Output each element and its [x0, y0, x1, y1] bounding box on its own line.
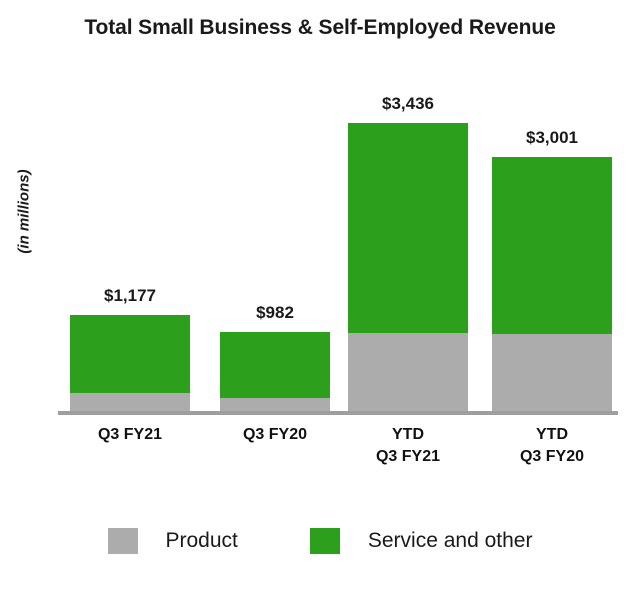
legend-swatch-service-icon: [310, 528, 340, 554]
legend-item-product[interactable]: Product: [108, 528, 238, 554]
bar-group-ytd-q3-fy21[interactable]: $3,436: [348, 123, 468, 413]
bar-group-q3-fy20[interactable]: $982: [220, 332, 330, 413]
x-axis-label-line1: YTD: [536, 426, 568, 443]
bar-segment-service[interactable]: [70, 315, 190, 393]
revenue-stacked-bar-chart: Total Small Business & Self-Employed Rev…: [0, 0, 640, 612]
bar-stack: [492, 157, 612, 413]
bar-segment-product[interactable]: [70, 393, 190, 413]
bar-segment-service[interactable]: [348, 123, 468, 333]
x-axis-label-line1: Q3 FY21: [98, 426, 162, 443]
x-axis-label-line2: Q3 FY20: [492, 446, 612, 468]
x-axis-label-line1: Q3 FY20: [243, 426, 307, 443]
bar-group-ytd-q3-fy20[interactable]: $3,001: [492, 157, 612, 413]
x-axis-label-q3-fy20: Q3 FY20: [220, 424, 330, 446]
bar-total-label: $3,001: [526, 128, 578, 148]
bar-total-label: $1,177: [104, 286, 156, 306]
x-axis-label-ytd-q3-fy20: YTD Q3 FY20: [492, 424, 612, 467]
plot-area: $1,177 $982 $3,436 $3,001: [0, 0, 640, 413]
legend-label-product: Product: [166, 529, 238, 553]
bar-segment-product[interactable]: [348, 333, 468, 413]
x-axis-label-line2: Q3 FY21: [348, 446, 468, 468]
bar-total-label: $3,436: [382, 94, 434, 114]
chart-legend: Product Service and other: [0, 528, 640, 554]
x-axis-label-ytd-q3-fy21: YTD Q3 FY21: [348, 424, 468, 467]
x-axis-line: [58, 411, 618, 415]
bar-total-label: $982: [256, 303, 294, 323]
bar-segment-service[interactable]: [492, 157, 612, 334]
bar-stack: [348, 123, 468, 413]
bar-segment-product[interactable]: [492, 334, 612, 413]
bar-segment-service[interactable]: [220, 332, 330, 398]
legend-label-service-and-other: Service and other: [368, 529, 533, 553]
bar-stack: [70, 315, 190, 413]
bar-stack: [220, 332, 330, 413]
x-axis-label-q3-fy21: Q3 FY21: [70, 424, 190, 446]
bar-group-q3-fy21[interactable]: $1,177: [70, 315, 190, 413]
legend-swatch-product-icon: [108, 528, 138, 554]
legend-item-service-and-other[interactable]: Service and other: [310, 528, 533, 554]
x-axis-label-line1: YTD: [392, 426, 424, 443]
